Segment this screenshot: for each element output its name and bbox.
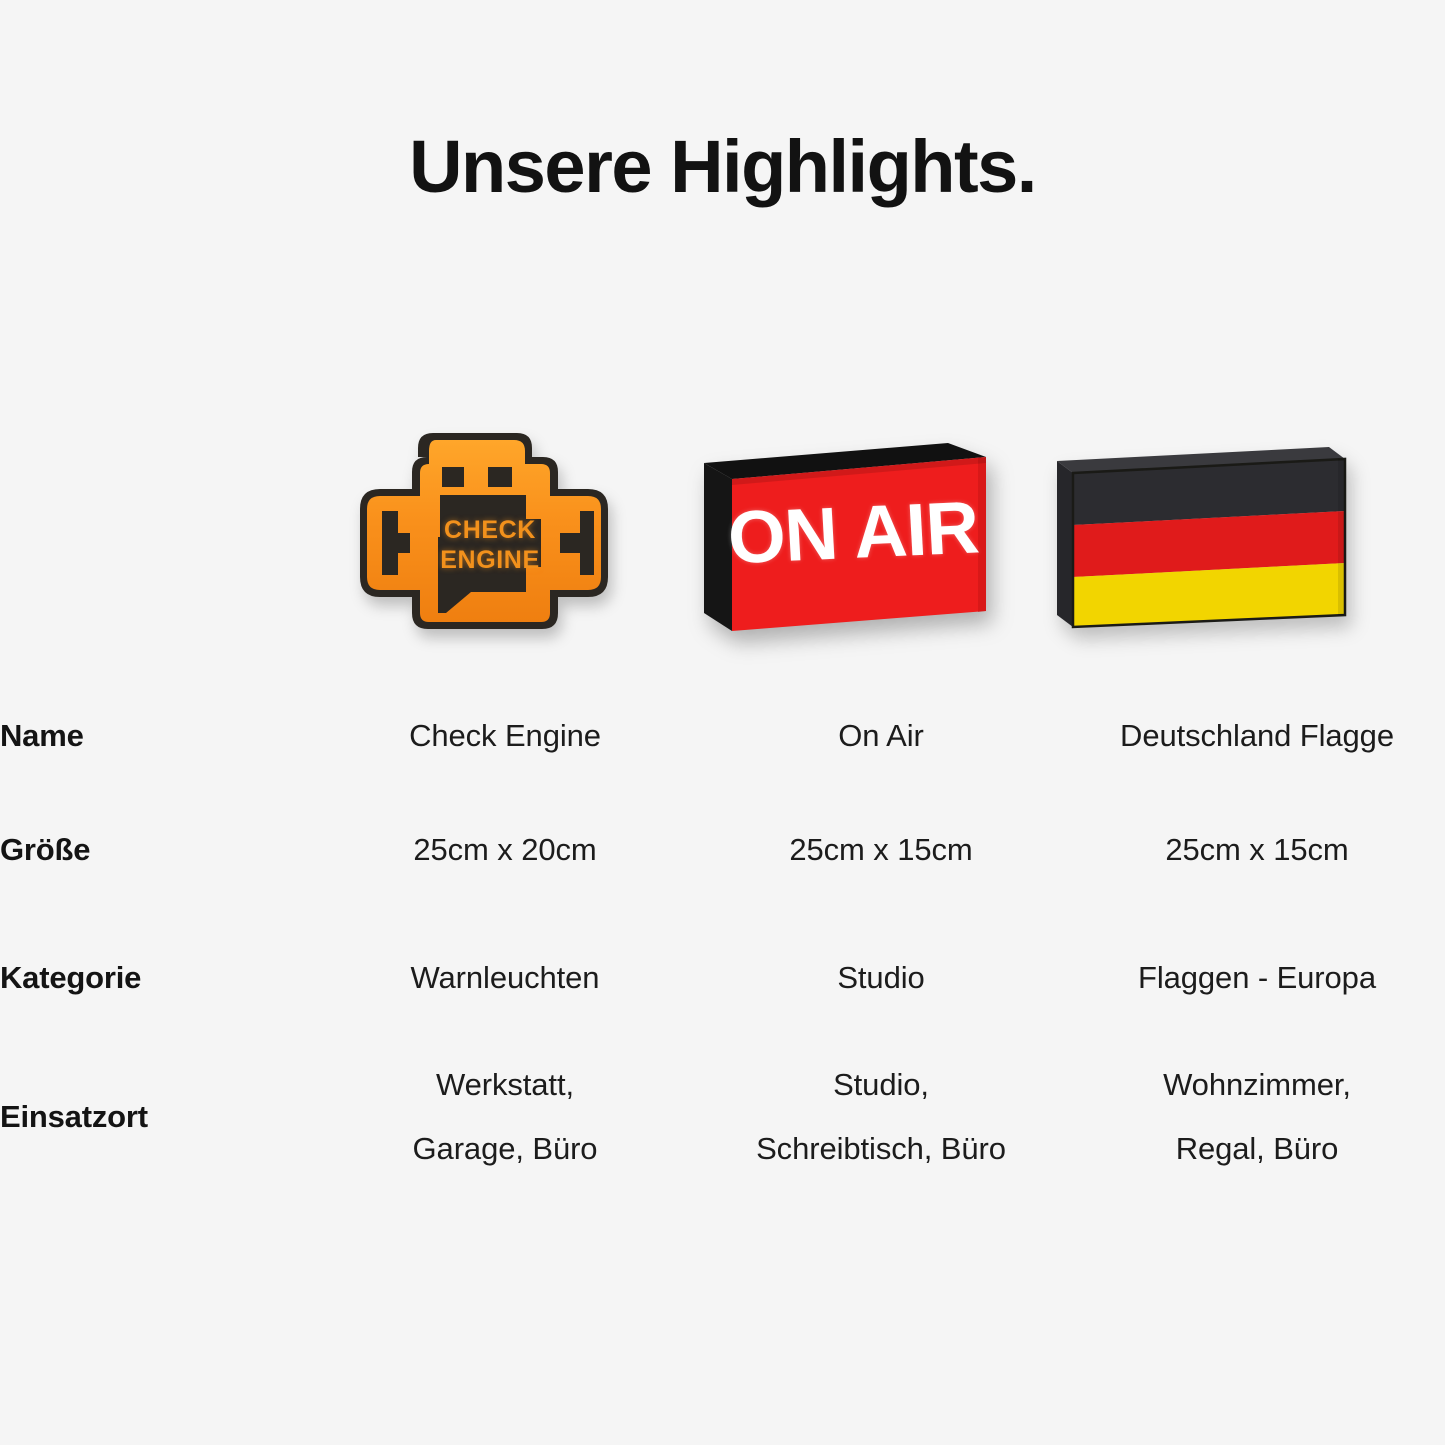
on-air-lightbox-icon: ON AIR (690, 435, 990, 645)
row-label-einsatzort: Einsatzort (0, 1042, 317, 1192)
cell-name-deutschland-flagge: Deutschland Flagge (1069, 686, 1445, 786)
row-label-groesse: Größe (0, 786, 317, 914)
row-label-kategorie: Kategorie (0, 914, 317, 1042)
product-image-deutschland-flagge[interactable] (1022, 415, 1368, 665)
cell-category-check-engine: Warnleuchten (317, 914, 693, 1042)
cell-line-1: 25cm x 15cm (789, 832, 972, 867)
table-row: Einsatzort Werkstatt, Garage, Büro Studi… (0, 1042, 1445, 1192)
cell-location-deutschland-flagge: Wohnzimmer, Regal, Büro (1069, 1042, 1445, 1192)
cell-line-1: Deutschland Flagge (1120, 718, 1394, 753)
cell-line-1: On Air (838, 718, 924, 753)
cell-location-on-air: Studio, Schreibtisch, Büro (693, 1042, 1069, 1192)
spec-table: Name Check Engine On Air Deutschland Fla… (0, 686, 1445, 1192)
cell-line-1: 25cm x 15cm (1165, 832, 1348, 867)
cell-line-2: Schreibtisch, Büro (693, 1117, 1069, 1181)
cell-name-check-engine: Check Engine (317, 686, 693, 786)
row-label-name: Name (0, 686, 317, 786)
product-image-on-air[interactable]: ON AIR (667, 415, 1013, 665)
cell-line-1: Wohnzimmer, (1069, 1053, 1445, 1117)
cell-line-2: Regal, Büro (1069, 1117, 1445, 1181)
cell-name-on-air: On Air (693, 686, 1069, 786)
cell-line-2: Garage, Büro (317, 1117, 693, 1181)
highlights-page: Unsere Highlights. (0, 0, 1445, 1445)
cell-line-1: Studio (837, 960, 924, 995)
cell-location-check-engine: Werkstatt, Garage, Büro (317, 1042, 693, 1192)
cell-size-on-air: 25cm x 15cm (693, 786, 1069, 914)
cell-line-1: 25cm x 20cm (413, 832, 596, 867)
product-image-check-engine[interactable]: CHECK ENGINE (317, 415, 663, 665)
cell-line-1: Warnleuchten (411, 960, 600, 995)
product-image-row: CHECK ENGINE ON (0, 415, 1445, 665)
cell-category-on-air: Studio (693, 914, 1069, 1042)
cell-category-deutschland-flagge: Flaggen - Europa (1069, 914, 1445, 1042)
table-row: Kategorie Warnleuchten Studio Flaggen - … (0, 914, 1445, 1042)
cell-size-check-engine: 25cm x 20cm (317, 786, 693, 914)
cell-line-1: Check Engine (409, 718, 601, 753)
cell-size-deutschland-flagge: 25cm x 15cm (1069, 786, 1445, 914)
cell-line-1: Werkstatt, (317, 1053, 693, 1117)
cell-line-1: Flaggen - Europa (1138, 960, 1376, 995)
germany-flag-lightbox-icon (1039, 437, 1351, 643)
page-title: Unsere Highlights. (0, 128, 1445, 206)
table-row: Name Check Engine On Air Deutschland Fla… (0, 686, 1445, 786)
table-row: Größe 25cm x 20cm 25cm x 15cm 25cm x 15c… (0, 786, 1445, 914)
cell-line-1: Studio, (693, 1053, 1069, 1117)
check-engine-lamp-icon: CHECK ENGINE (336, 427, 644, 653)
